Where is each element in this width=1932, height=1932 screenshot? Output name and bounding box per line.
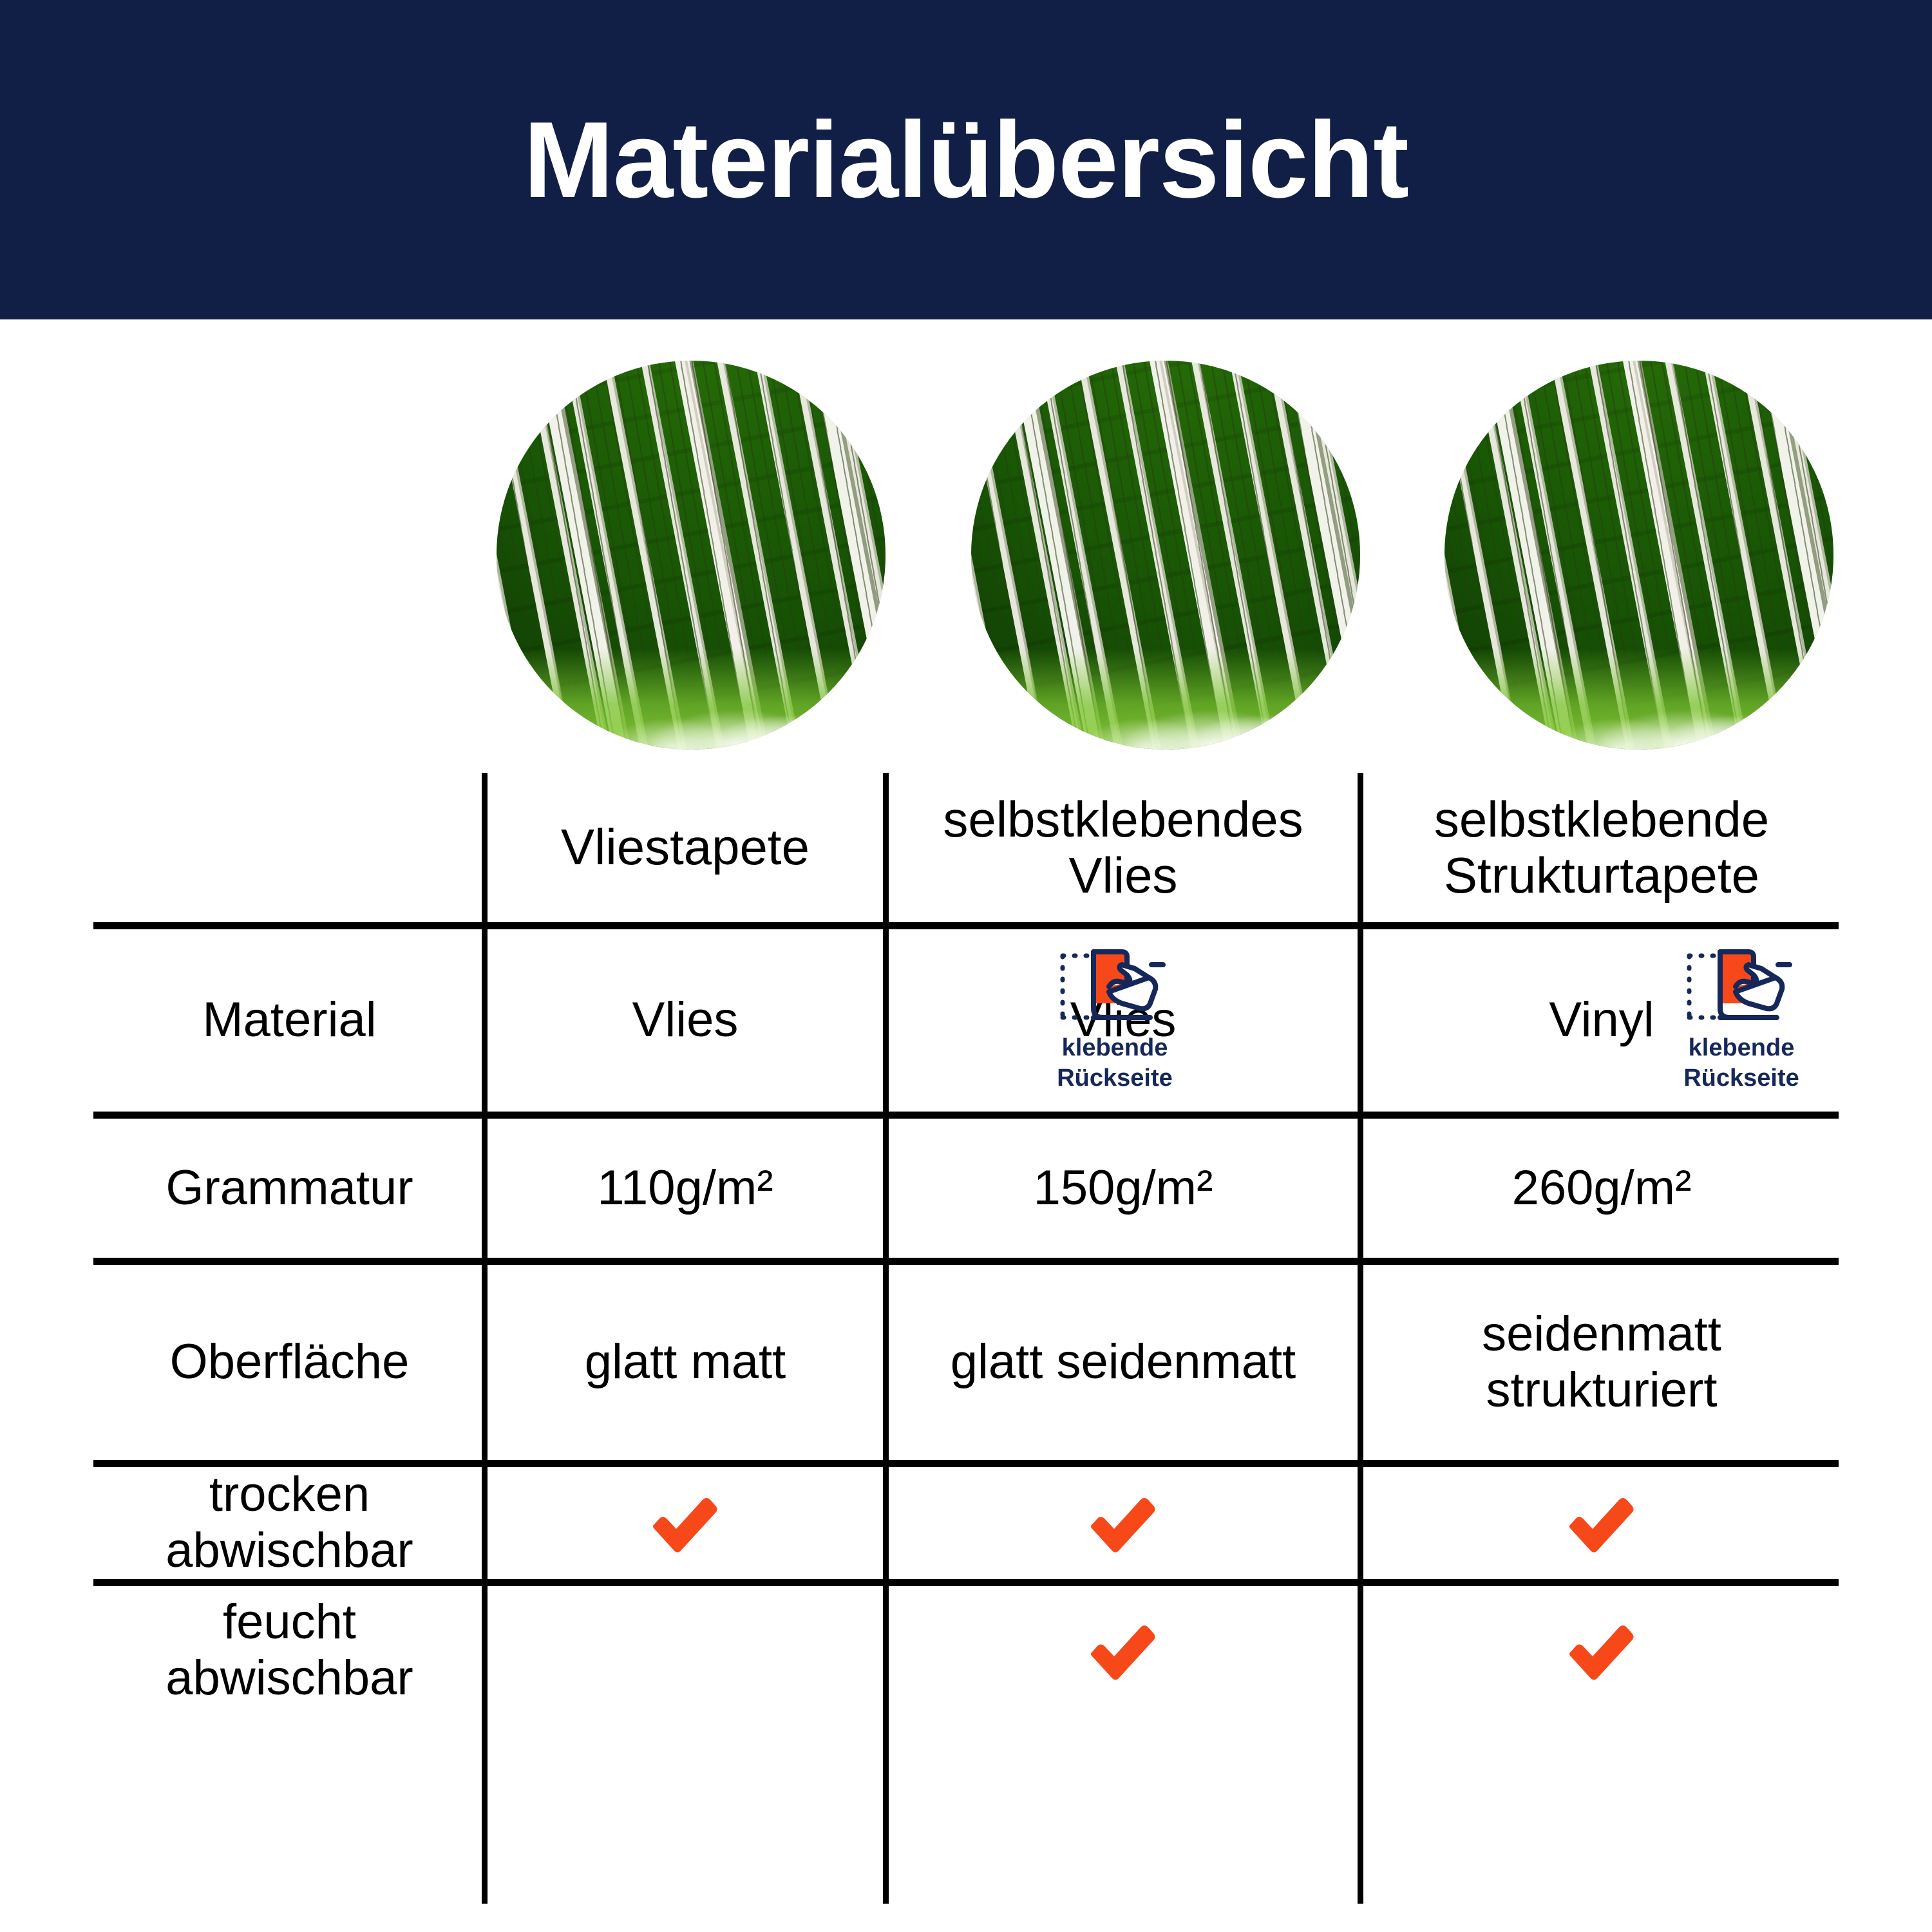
sticky-backing-badge-line2: Rückseite	[1668, 1065, 1815, 1092]
row-label-trocken-abwischbar: trocken abwischbar	[93, 1467, 482, 1579]
checkmark-icon	[1084, 1620, 1162, 1681]
column-header-selbstklebende-strukturtapete: selbstklebende Strukturtapete	[1363, 773, 1840, 922]
cell-feucht-vliestapete	[488, 1586, 883, 1715]
row-label-grammatur-text: Grammatur	[93, 1160, 482, 1217]
peeling-backing-icon	[1680, 942, 1803, 1032]
row-label-material: Material	[93, 929, 482, 1112]
row-label-oberflaeche: Oberfläche	[93, 1265, 482, 1460]
column-divider-1	[482, 773, 488, 1904]
cell-oberflaeche-vliestapete: glatt matt	[488, 1265, 883, 1460]
checkmark-icon	[1084, 1492, 1162, 1554]
cell-feucht-selbstklebende-strukturtapete	[1363, 1586, 1840, 1715]
page-title: Materialübersicht	[524, 106, 1408, 214]
cell-feucht-selbstklebendes-vlies	[889, 1586, 1358, 1715]
sticky-backing-badge-line1: klebende	[1041, 1034, 1188, 1062]
cell-grammatur-selbstklebende-strukturtapete: 260g/m²	[1363, 1119, 1840, 1258]
peeling-backing-icon	[1054, 942, 1176, 1032]
checkmark-icon	[1563, 1492, 1640, 1554]
cell-trocken-selbstklebendes-vlies	[889, 1467, 1358, 1579]
swatch-vliestapete	[497, 361, 885, 750]
cell-grammatur-selbstklebendes-vlies: 150g/m²	[889, 1119, 1358, 1258]
checkmark-icon	[1563, 1620, 1640, 1681]
row-label-material-text: Material	[93, 992, 482, 1048]
header-banner: Materialübersicht	[0, 0, 1932, 319]
sticky-backing-badge-line2: Rückseite	[1041, 1065, 1188, 1092]
row-divider-header	[93, 922, 1839, 929]
cell-oberflaeche-selbstklebende-strukturtapete: seidenmatt strukturiert	[1363, 1265, 1840, 1460]
swatch-row	[485, 361, 1839, 755]
row-label-trocken-abwischbar-text: trocken abwischbar	[93, 1467, 482, 1578]
row-label-feucht-abwischbar: feucht abwischbar	[93, 1586, 482, 1715]
birch-forest-ground	[971, 649, 1360, 750]
checkmark-icon	[647, 1492, 724, 1554]
swatch-selbstklebende-strukturtapete	[1444, 361, 1833, 750]
row-label-grammatur: Grammatur	[93, 1119, 482, 1258]
swatch-selbstklebendes-vlies	[971, 361, 1360, 750]
row-divider-2	[93, 1258, 1839, 1265]
column-divider-3	[1358, 773, 1363, 1904]
birch-forest-ground	[1444, 649, 1833, 750]
row-divider-3	[93, 1460, 1839, 1467]
material-comparison-table: Vliestapete selbstklebendes Vlies selbst…	[93, 773, 1840, 1932]
row-label-oberflaeche-text: Oberfläche	[93, 1334, 482, 1390]
material-overview-infographic: Materialübersicht Vliestapete selbstkleb…	[0, 0, 1932, 1932]
cell-trocken-vliestapete	[488, 1467, 883, 1579]
cell-oberflaeche-selbstklebendes-vlies: glatt seidenmatt	[889, 1265, 1358, 1460]
row-label-feucht-abwischbar-text: feucht abwischbar	[93, 1595, 482, 1706]
column-header-selbstklebendes-vlies: selbstklebendes Vlies	[889, 773, 1358, 922]
sticky-backing-badge-line1: klebende	[1668, 1034, 1815, 1062]
sticky-backing-badge: klebende Rückseite	[1041, 942, 1188, 1092]
sticky-backing-badge: klebende Rückseite	[1668, 942, 1815, 1092]
cell-material-vliestapete: Vlies	[488, 929, 883, 1112]
cell-trocken-selbstklebende-strukturtapete	[1363, 1467, 1840, 1579]
birch-forest-ground	[497, 649, 885, 750]
column-header-vliestapete: Vliestapete	[488, 773, 883, 922]
column-divider-2	[883, 773, 889, 1904]
cell-grammatur-vliestapete: 110g/m²	[488, 1119, 883, 1258]
row-divider-4	[93, 1579, 1839, 1586]
row-divider-1	[93, 1112, 1839, 1119]
